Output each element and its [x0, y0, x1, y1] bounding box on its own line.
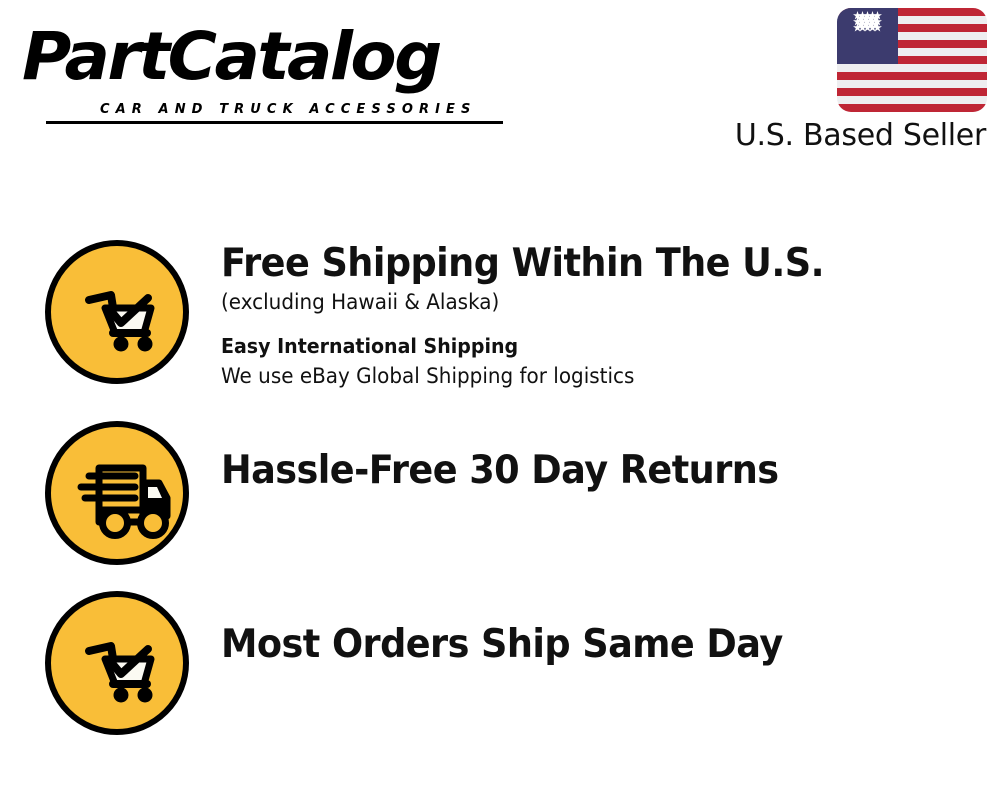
us-flag-icon	[837, 8, 987, 112]
feature-row-same-day-ship: Most Orders Ship Same Day	[0, 589, 1000, 737]
us-based-seller-label: U.S. Based Seller	[735, 118, 986, 154]
feature-row-returns: Hassle-Free 30 Day Returns	[0, 419, 1000, 567]
feature-subtext-detail: We use eBay Global Shipping for logistic…	[221, 361, 830, 391]
feature-text-block: Hassle-Free 30 Day Returns	[221, 419, 814, 494]
flag-canton	[837, 8, 898, 64]
brand-wordmark: PartCatalog	[22, 18, 440, 96]
us-flag-badge	[837, 8, 987, 112]
brand-logo[interactable]: PartCatalog CAR AND TRUCK ACCESSORIES	[22, 18, 492, 118]
shopping-cart-check-icon	[43, 589, 191, 737]
brand-logo-underline	[46, 121, 503, 124]
feature-text-block: Most Orders Ship Same Day	[221, 589, 819, 668]
delivery-truck-icon	[43, 419, 191, 567]
feature-row-free-shipping: Free Shipping Within The U.S. (excluding…	[0, 238, 1000, 391]
feature-heading: Free Shipping Within The U.S.	[221, 240, 824, 287]
feature-subtext: (excluding Hawaii & Alaska)	[221, 287, 830, 317]
shopping-cart-check-icon	[43, 238, 191, 386]
feature-heading: Most Orders Ship Same Day	[221, 621, 783, 668]
feature-heading: Hassle-Free 30 Day Returns	[221, 447, 779, 494]
feature-text-block: Free Shipping Within The U.S. (excluding…	[221, 238, 862, 391]
shipping-info-banner: PartCatalog CAR AND TRUCK ACCESSORIES	[0, 0, 1000, 800]
feature-subtext-strong: Easy International Shipping	[221, 331, 830, 361]
brand-tagline: CAR AND TRUCK ACCESSORIES	[100, 102, 477, 117]
